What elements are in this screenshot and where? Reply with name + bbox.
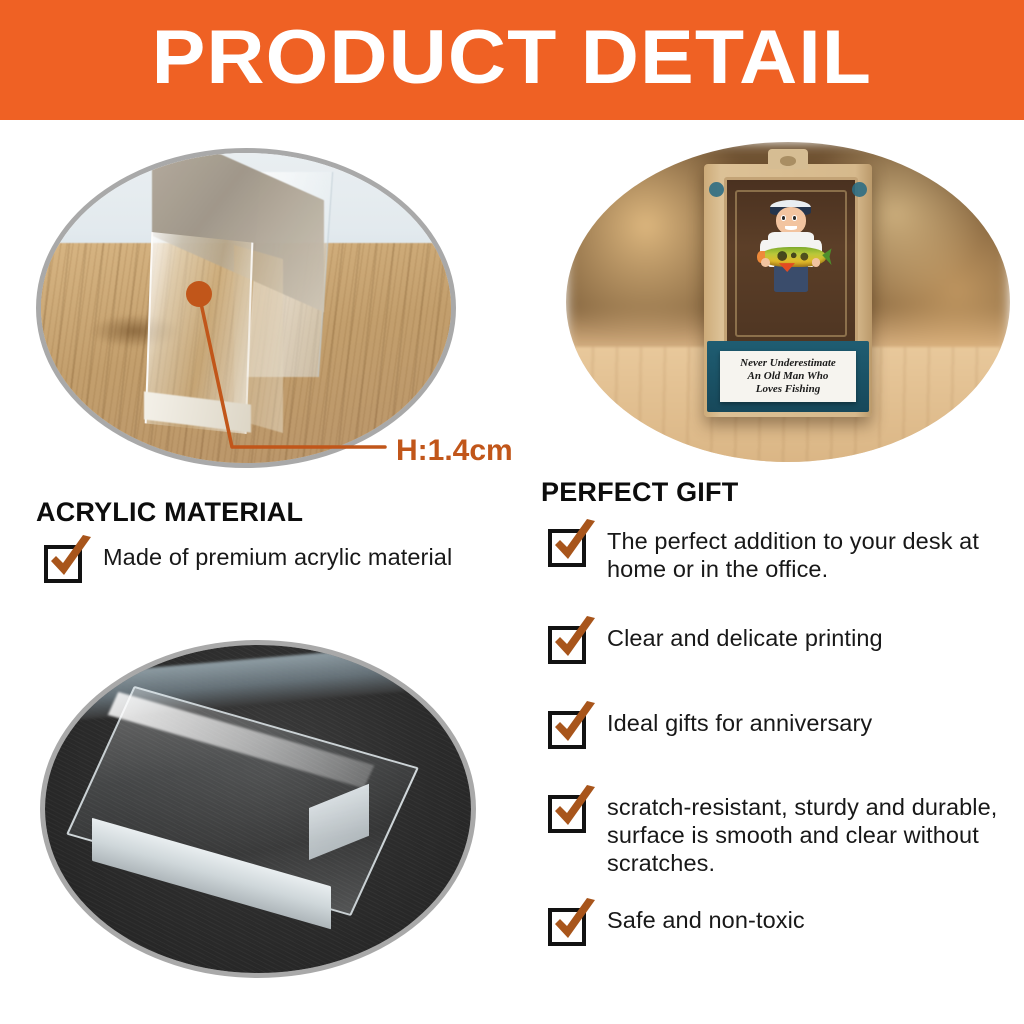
figurine-head (776, 207, 807, 235)
checkbox-checked-icon (44, 545, 82, 583)
figurine-legs (774, 265, 807, 292)
header-banner: PRODUCT DETAIL (0, 0, 1024, 120)
section-heading-perfect-gift: PERFECT GIFT (541, 477, 738, 508)
photo-acrylic-edge (36, 148, 456, 468)
photo-gift-box: Never Underestimate An Old Man Who Loves… (566, 142, 1010, 462)
feature-text: Safe and non-toxic (607, 906, 805, 934)
figurine-eye-left (781, 215, 786, 221)
feature-item: Made of premium acrylic material (44, 543, 452, 583)
page-title: PRODUCT DETAIL (152, 20, 872, 96)
feature-item: Clear and delicate printing (548, 624, 883, 664)
wood-table-scene (41, 153, 451, 463)
box-display-window (724, 177, 858, 350)
box-banner-line-3: Loves Fishing (756, 383, 820, 396)
checkbox-checked-icon (548, 908, 586, 946)
box-hang-hole (780, 156, 797, 166)
box-badge-left-icon (709, 182, 724, 197)
checkbox-checked-icon (548, 529, 586, 567)
box-banner-line-2: An Old Man Who (748, 370, 829, 383)
checkbox-checked-icon (548, 711, 586, 749)
photo-acrylic-block (40, 640, 476, 978)
fish-spots (774, 250, 815, 262)
product-gift-box: Never Underestimate An Old Man Who Loves… (704, 164, 873, 417)
feature-item: Ideal gifts for anniversary (548, 709, 872, 749)
feature-text: Clear and delicate printing (607, 624, 883, 652)
feature-text: Ideal gifts for anniversary (607, 709, 872, 737)
feature-text: Made of premium acrylic material (103, 543, 452, 571)
feature-text: scratch-resistant, sturdy and durable, s… (607, 793, 1024, 878)
feature-item: scratch-resistant, sturdy and durable, s… (548, 793, 1024, 878)
checkbox-checked-icon (548, 795, 586, 833)
section-heading-acrylic-material: ACRYLIC MATERIAL (36, 497, 303, 528)
feature-item: Safe and non-toxic (548, 906, 805, 946)
feature-text: The perfect addition to your desk at hom… (607, 527, 1024, 583)
box-bottom-banner: Never Underestimate An Old Man Who Loves… (707, 341, 869, 412)
box-badge-right-icon (852, 182, 867, 197)
box-banner-line-1: Never Underestimate (740, 357, 836, 370)
dimension-label: H:1.4cm (396, 434, 513, 468)
checkbox-checked-icon (548, 626, 586, 664)
feature-item: The perfect addition to your desk at hom… (548, 527, 1024, 583)
figurine-smile (785, 226, 798, 230)
figurine-hand-right (812, 258, 821, 266)
box-banner-ribbon: Never Underestimate An Old Man Who Loves… (720, 351, 856, 402)
dimension-callout-dot (186, 281, 212, 307)
